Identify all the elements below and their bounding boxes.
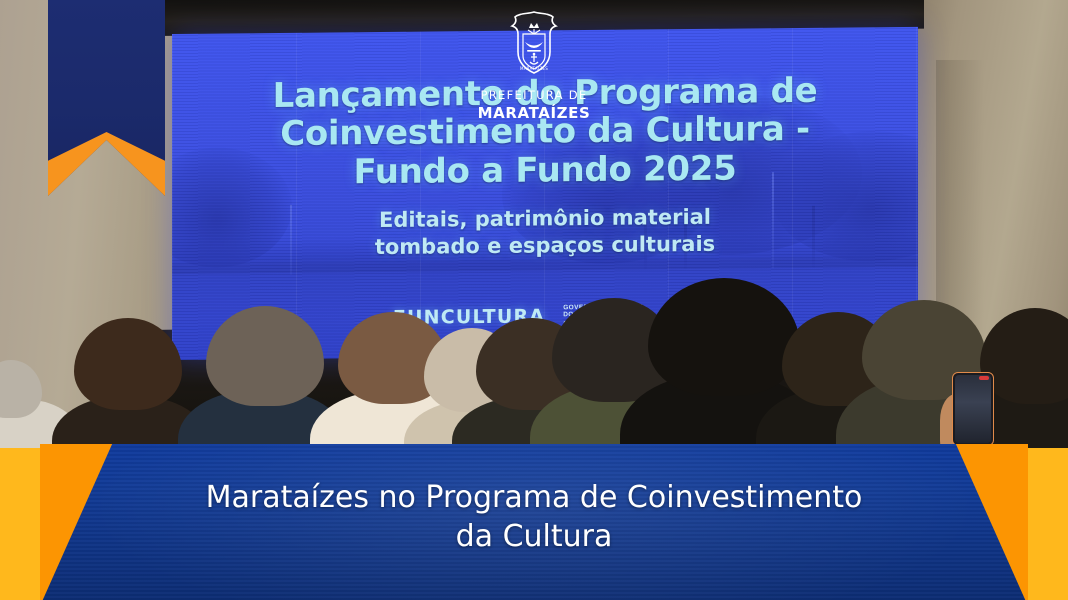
slide-subtitle-line-2: tombado e espaços culturais	[218, 229, 872, 262]
ribbon-line-1: PREFEITURA DE	[0, 88, 1068, 102]
ribbon-line-2: MARATAÍZES	[0, 104, 1068, 122]
slide-title-line-3: Fundo a Fundo 2025	[218, 148, 872, 193]
screenshot-stage: Lançamento do Programa de Coinvestimento…	[0, 0, 1068, 600]
svg-text:MARATAIZES: MARATAIZES	[520, 66, 548, 71]
smartphone-recording-icon	[952, 372, 994, 446]
caption-headline: Marataízes no Programa de Coinvestimento…	[0, 478, 1068, 556]
coat-of-arms-icon: MARATAIZES	[503, 8, 565, 78]
caption-banner: Marataízes no Programa de Coinvestimento…	[0, 440, 1068, 600]
